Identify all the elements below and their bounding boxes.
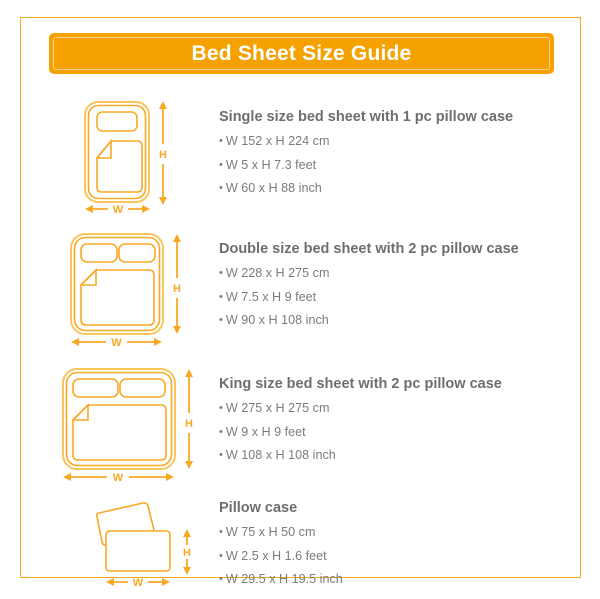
size-section-king: H W King size bed sheet with 2 pc pillow… xyxy=(49,363,554,485)
spec-item: •W 2.5 x H 1.6 feet xyxy=(219,550,554,563)
blanket-shape xyxy=(73,405,166,460)
blanket-shape xyxy=(81,270,154,325)
height-dimension-arrow: H xyxy=(185,369,193,469)
spec-item: •W 5 x H 7.3 feet xyxy=(219,159,554,172)
height-dimension-arrow: H xyxy=(159,101,167,205)
width-dimension-arrow: W xyxy=(63,472,174,484)
item-title: Pillow case xyxy=(219,501,554,517)
width-label: W xyxy=(113,204,124,214)
spec-item: •W 275 x H 275 cm xyxy=(219,402,554,415)
pillow-case-diagram-cell: H W xyxy=(49,495,209,595)
king-bed-diagram-cell: H W xyxy=(49,363,209,485)
spec-item: •W 75 x H 50 cm xyxy=(219,526,554,539)
pillow-shape-left xyxy=(73,379,118,397)
spec-text: W 60 x H 88 inch xyxy=(226,181,322,195)
pillow-shape-right xyxy=(120,379,165,397)
blanket-fold-corner xyxy=(81,270,96,285)
spec-item: •W 152 x H 224 cm xyxy=(219,135,554,148)
bullet-icon: • xyxy=(219,573,223,585)
item-title: King size bed sheet with 2 pc pillow cas… xyxy=(219,377,554,393)
bullet-icon: • xyxy=(219,291,223,303)
spec-text: W 7.5 x H 9 feet xyxy=(226,290,316,304)
spec-text: W 90 x H 108 inch xyxy=(226,313,329,327)
item-title: Double size bed sheet with 2 pc pillow c… xyxy=(219,242,554,258)
spec-item: •W 90 x H 108 inch xyxy=(219,314,554,327)
height-label: H xyxy=(159,149,167,161)
spec-list: •W 152 x H 224 cm •W 5 x H 7.3 feet •W 6… xyxy=(219,135,554,195)
width-dimension-arrow: W xyxy=(71,337,162,349)
double-bed-diagram: H W xyxy=(49,228,209,350)
spec-item: •W 29.5 x H 19.5 inch xyxy=(219,573,554,586)
spec-text: W 29.5 x H 19.5 inch xyxy=(226,572,343,586)
bullet-icon: • xyxy=(219,314,223,326)
spec-list: •W 228 x H 275 cm •W 7.5 x H 9 feet •W 9… xyxy=(219,267,554,327)
pillow-case-diagram: H W xyxy=(49,495,209,591)
pillow-text-cell: Pillow case •W 75 x H 50 cm •W 2.5 x H 1… xyxy=(209,495,554,597)
bullet-icon: • xyxy=(219,182,223,194)
page-title: Bed Sheet Size Guide xyxy=(192,42,412,66)
bed-mattress-outline xyxy=(67,373,172,466)
height-dimension-arrow: H xyxy=(173,234,181,334)
bed-outer-frame-outline xyxy=(85,102,149,202)
spec-item: •W 108 x H 108 inch xyxy=(219,449,554,462)
size-section-double: H W Double size bed sheet with 2 pc pill… xyxy=(49,228,554,350)
double-text-cell: Double size bed sheet with 2 pc pillow c… xyxy=(209,228,554,338)
height-label: H xyxy=(173,283,181,295)
bullet-icon: • xyxy=(219,402,223,414)
blanket-fold-corner xyxy=(73,405,88,420)
bullet-icon: • xyxy=(219,159,223,171)
king-text-cell: King size bed sheet with 2 pc pillow cas… xyxy=(209,363,554,473)
bullet-icon: • xyxy=(219,267,223,279)
item-title: Single size bed sheet with 1 pc pillow c… xyxy=(219,110,554,126)
pillow-shape xyxy=(97,112,137,131)
spec-item: •W 60 x H 88 inch xyxy=(219,182,554,195)
spec-list: •W 75 x H 50 cm •W 2.5 x H 1.6 feet •W 2… xyxy=(219,526,554,586)
width-label: W xyxy=(113,472,124,484)
bullet-icon: • xyxy=(219,135,223,147)
pillow-shape-left xyxy=(81,244,117,262)
bullet-icon: • xyxy=(219,426,223,438)
single-bed-diagram: H W xyxy=(49,96,209,214)
single-bed-diagram-cell: H W xyxy=(49,96,209,214)
spec-item: •W 9 x H 9 feet xyxy=(219,426,554,439)
pillow-shape-right xyxy=(119,244,155,262)
height-label: H xyxy=(185,418,193,430)
width-label: W xyxy=(133,577,144,589)
spec-text: W 108 x H 108 inch xyxy=(226,448,336,462)
spec-text: W 152 x H 224 cm xyxy=(226,134,330,148)
bullet-icon: • xyxy=(219,449,223,461)
bullet-icon: • xyxy=(219,550,223,562)
size-section-single: H W Single size bed sheet with 1 pc pill… xyxy=(49,96,554,214)
spec-text: W 75 x H 50 cm xyxy=(226,525,316,539)
spec-text: W 5 x H 7.3 feet xyxy=(226,158,316,172)
page-title-bar: Bed Sheet Size Guide xyxy=(49,33,554,74)
size-section-pillow: H W Pillow case •W 75 x H 50 cm •W 2.5 x… xyxy=(49,495,554,595)
bullet-icon: • xyxy=(219,526,223,538)
spec-item: •W 228 x H 275 cm xyxy=(219,267,554,280)
spec-text: W 9 x H 9 feet xyxy=(226,425,306,439)
height-label: H xyxy=(183,547,191,559)
king-bed-diagram: H W xyxy=(49,363,209,485)
bed-outer-frame-outline xyxy=(63,369,175,469)
spec-text: W 275 x H 275 cm xyxy=(226,401,330,415)
width-dimension-arrow: W xyxy=(106,577,170,589)
single-text-cell: Single size bed sheet with 1 pc pillow c… xyxy=(209,96,554,206)
double-bed-diagram-cell: H W xyxy=(49,228,209,350)
spec-item: •W 7.5 x H 9 feet xyxy=(219,291,554,304)
spec-text: W 2.5 x H 1.6 feet xyxy=(226,549,327,563)
pillow-shape-front xyxy=(106,531,170,571)
spec-list: •W 275 x H 275 cm •W 9 x H 9 feet •W 108… xyxy=(219,402,554,462)
guide-frame: Bed Sheet Size Guide H xyxy=(20,17,581,578)
width-dimension-arrow: W xyxy=(85,204,150,214)
width-label: W xyxy=(111,337,122,349)
blanket-fold-corner xyxy=(97,141,111,158)
spec-text: W 228 x H 275 cm xyxy=(226,266,330,280)
height-dimension-arrow: H xyxy=(183,529,191,575)
